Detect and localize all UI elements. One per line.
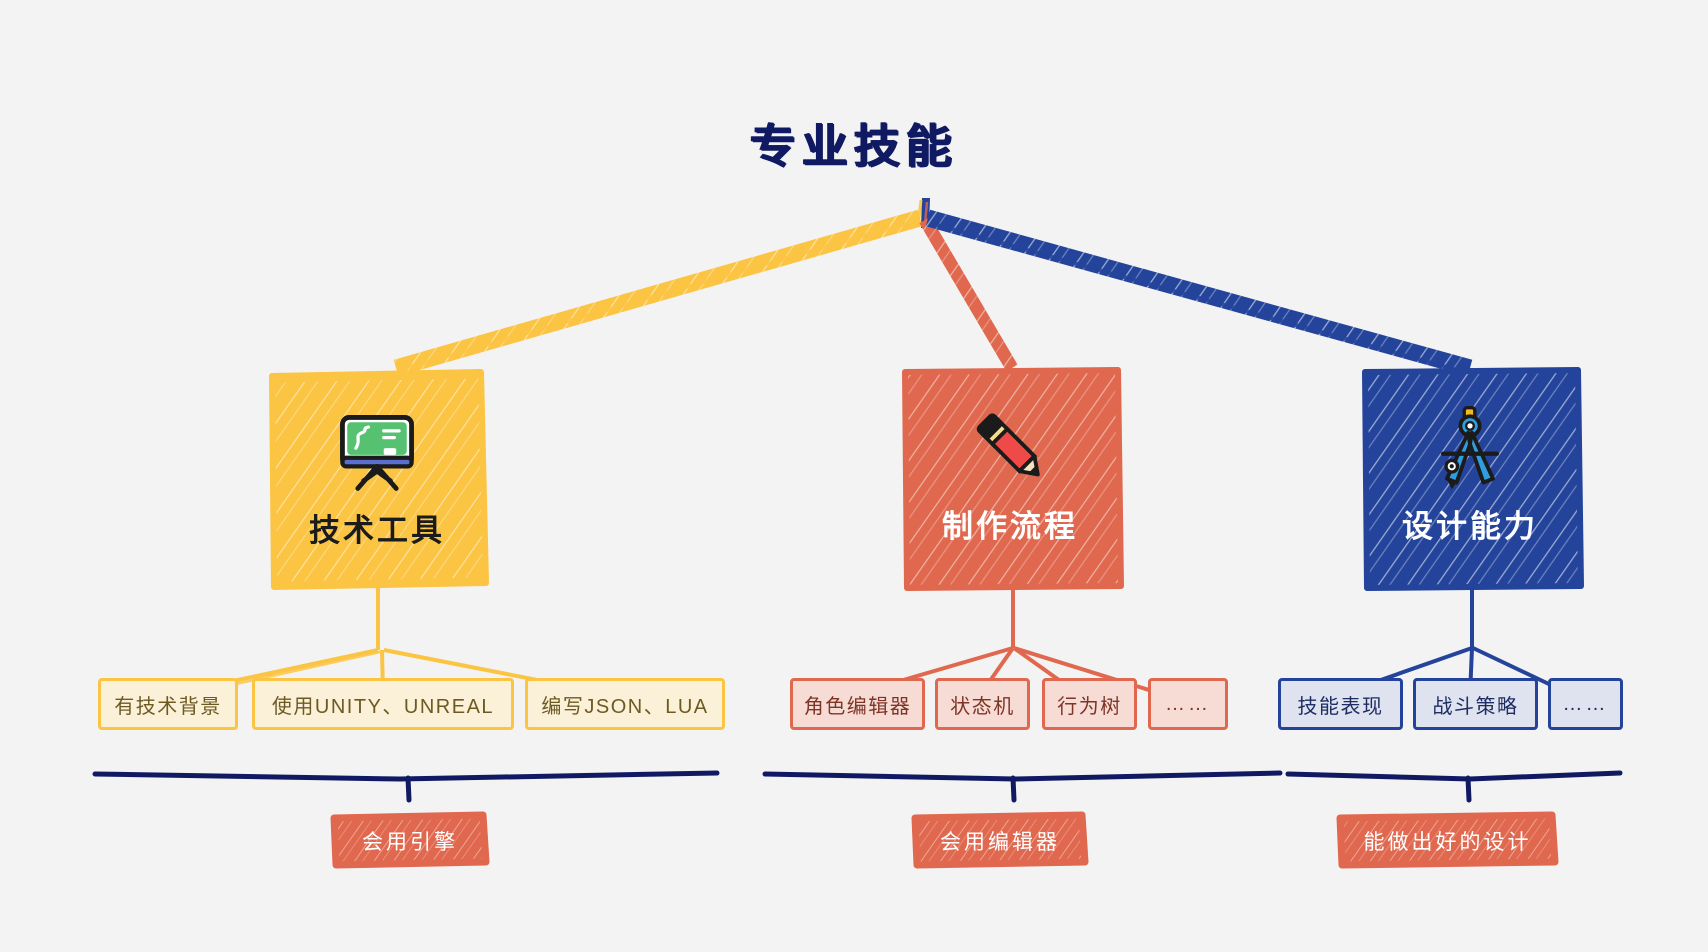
subbox-production-1[interactable]: 状态机 [935,678,1030,730]
subbox-design-0[interactable]: 技能表现 [1278,678,1403,730]
branch-card-label: 设计能力 [1402,510,1538,544]
branch-card-tech-tools[interactable]: 技术工具 [270,372,484,587]
subbox-production-2[interactable]: 行为树 [1042,678,1137,730]
compass-divider-icon [1422,400,1518,496]
result-tag-design: 能做出好的设计 [1340,817,1555,865]
pencil-icon [962,400,1058,496]
branch-card-design-ability[interactable]: 设计能力 [1363,368,1577,583]
subbox-label: …… [1563,693,1609,716]
result-tag-production: 会用编辑器 [915,817,1085,865]
subbox-label: …… [1165,693,1211,716]
branch-card-production-process[interactable]: 制作流程 [903,368,1117,583]
result-tag-label: 会用引擎 [362,826,458,856]
subbox-production-0[interactable]: 角色编辑器 [790,678,925,730]
branch-line-yellow [396,218,920,370]
subbox-label: 状态机 [950,690,1015,719]
subbox-label: 行为树 [1057,690,1122,719]
subbox-label: 角色编辑器 [804,690,912,719]
branch-line-blue [928,218,1470,373]
branch-card-label: 制作流程 [942,510,1078,544]
subbox-tech-tools-1[interactable]: 使用UNITY、UNREAL [252,678,514,730]
subbox-label: 战斗策略 [1433,690,1519,719]
diagram-canvas: 专业技能 技术工具 [0,0,1708,952]
result-tag-label: 会用编辑器 [940,826,1060,856]
subbox-design-2[interactable]: …… [1548,678,1623,730]
subbox-tech-tools-0[interactable]: 有技术背景 [98,678,238,730]
page-title: 专业技能 [0,110,1708,176]
subbox-production-3[interactable]: …… [1148,678,1228,730]
branch-line-red [925,220,1012,368]
hub-trunk [918,198,930,228]
subbox-label: 有技术背景 [114,690,222,719]
result-tag-tech-tools: 会用引擎 [334,817,486,865]
subbox-label: 使用UNITY、UNREAL [272,690,494,719]
result-tag-label: 能做出好的设计 [1364,826,1532,856]
subbox-label: 技能表现 [1298,690,1384,719]
subbox-design-1[interactable]: 战斗策略 [1413,678,1538,730]
branch-card-label: 技术工具 [309,514,445,548]
subbox-label: 编写JSON、LUA [541,690,708,719]
chalkboard-easel-icon [329,404,425,500]
baseline-rules [95,773,1620,800]
subbox-tech-tools-2[interactable]: 编写JSON、LUA [525,678,725,730]
